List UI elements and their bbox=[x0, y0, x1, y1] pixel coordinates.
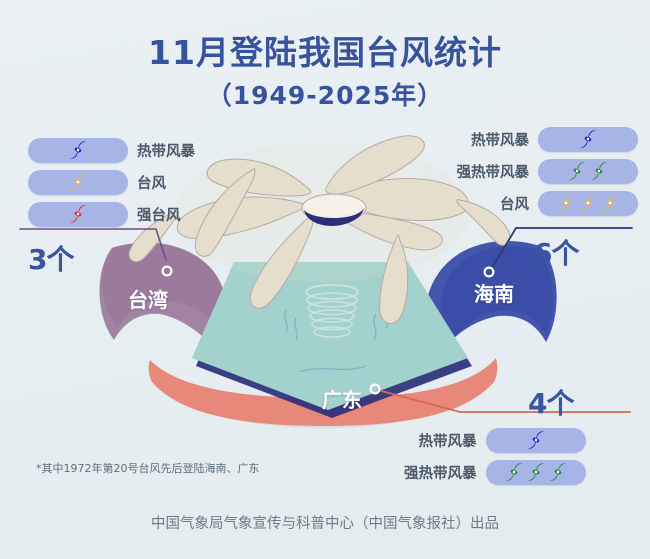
legend-row-typhoon: 台风 bbox=[28, 169, 195, 195]
legend-guangdong: 热带风暴强热带风暴 bbox=[404, 427, 586, 485]
count-taiwan: 3个 bbox=[28, 238, 73, 278]
legend-row-typhoon: 台风 bbox=[500, 190, 638, 216]
legend-taiwan: 热带风暴台风强台风 bbox=[28, 137, 195, 227]
legend-row-strong-typhoon: 强台风 bbox=[28, 201, 195, 227]
legend-pill-typhoon[interactable] bbox=[538, 191, 638, 216]
province-label-hainan: 海南 bbox=[474, 278, 514, 307]
legend-pill-typhoon[interactable] bbox=[28, 170, 128, 195]
typhoon-icon bbox=[556, 193, 576, 213]
page-title: 11月登陆我国台风统计 bbox=[0, 26, 650, 74]
province-label-guangdong: 广东 bbox=[322, 384, 362, 413]
typhoon-icon bbox=[589, 161, 609, 181]
count-guangdong: 4个 bbox=[528, 382, 573, 422]
legend-pill-strong-typhoon[interactable] bbox=[28, 202, 128, 227]
legend-pill-severe-tropical-storm[interactable] bbox=[538, 159, 638, 184]
legend-row-tropical-storm: 热带风暴 bbox=[28, 137, 195, 163]
legend-pill-tropical-storm[interactable] bbox=[538, 127, 638, 152]
legend-row-tropical-storm: 热带风暴 bbox=[471, 126, 638, 152]
province-label-taiwan: 台湾 bbox=[128, 284, 168, 313]
typhoon-icon bbox=[567, 161, 587, 181]
typhoon-icon bbox=[548, 462, 568, 482]
infographic-canvas: 11月登陆我国台风统计 （1949-2025年） 热带风暴台风强台风 热带风暴强… bbox=[0, 0, 650, 559]
legend-row-tropical-storm: 热带风暴 bbox=[419, 427, 586, 453]
legend-label-typhoon: 台风 bbox=[500, 193, 529, 214]
legend-label-tropical-storm: 热带风暴 bbox=[471, 129, 529, 150]
footnote: *其中1972年第20号台风先后登陆海南、广东 bbox=[36, 460, 260, 476]
legend-row-severe-tropical-storm: 强热带风暴 bbox=[457, 158, 639, 184]
legend-label-strong-typhoon: 强台风 bbox=[137, 204, 181, 225]
typhoon-icon bbox=[504, 462, 524, 482]
legend-label-tropical-storm: 热带风暴 bbox=[419, 430, 477, 451]
legend-label-severe-tropical-storm: 强热带风暴 bbox=[404, 462, 477, 483]
typhoon-icon bbox=[600, 193, 620, 213]
legend-pill-tropical-storm[interactable] bbox=[28, 138, 128, 163]
typhoon-icon bbox=[526, 462, 546, 482]
typhoon-icon bbox=[68, 204, 88, 224]
page-subtitle: （1949-2025年） bbox=[0, 76, 650, 112]
legend-hainan: 热带风暴强热带风暴台风 bbox=[457, 126, 639, 216]
legend-label-tropical-storm: 热带风暴 bbox=[137, 140, 195, 161]
legend-pill-tropical-storm[interactable] bbox=[486, 428, 586, 453]
typhoon-icon bbox=[526, 430, 546, 450]
typhoon-icon bbox=[68, 140, 88, 160]
legend-pill-severe-tropical-storm[interactable] bbox=[486, 460, 586, 485]
typhoon-icon bbox=[578, 129, 598, 149]
typhoon-icon bbox=[578, 193, 598, 213]
legend-row-severe-tropical-storm: 强热带风暴 bbox=[404, 459, 586, 485]
credit-line: 中国气象局气象宣传与科普中心（中国气象报社）出品 bbox=[0, 512, 650, 533]
legend-label-typhoon: 台风 bbox=[137, 172, 166, 193]
typhoon-icon bbox=[68, 172, 88, 192]
legend-label-severe-tropical-storm: 强热带风暴 bbox=[457, 161, 530, 182]
count-hainan: 6个 bbox=[533, 232, 578, 272]
